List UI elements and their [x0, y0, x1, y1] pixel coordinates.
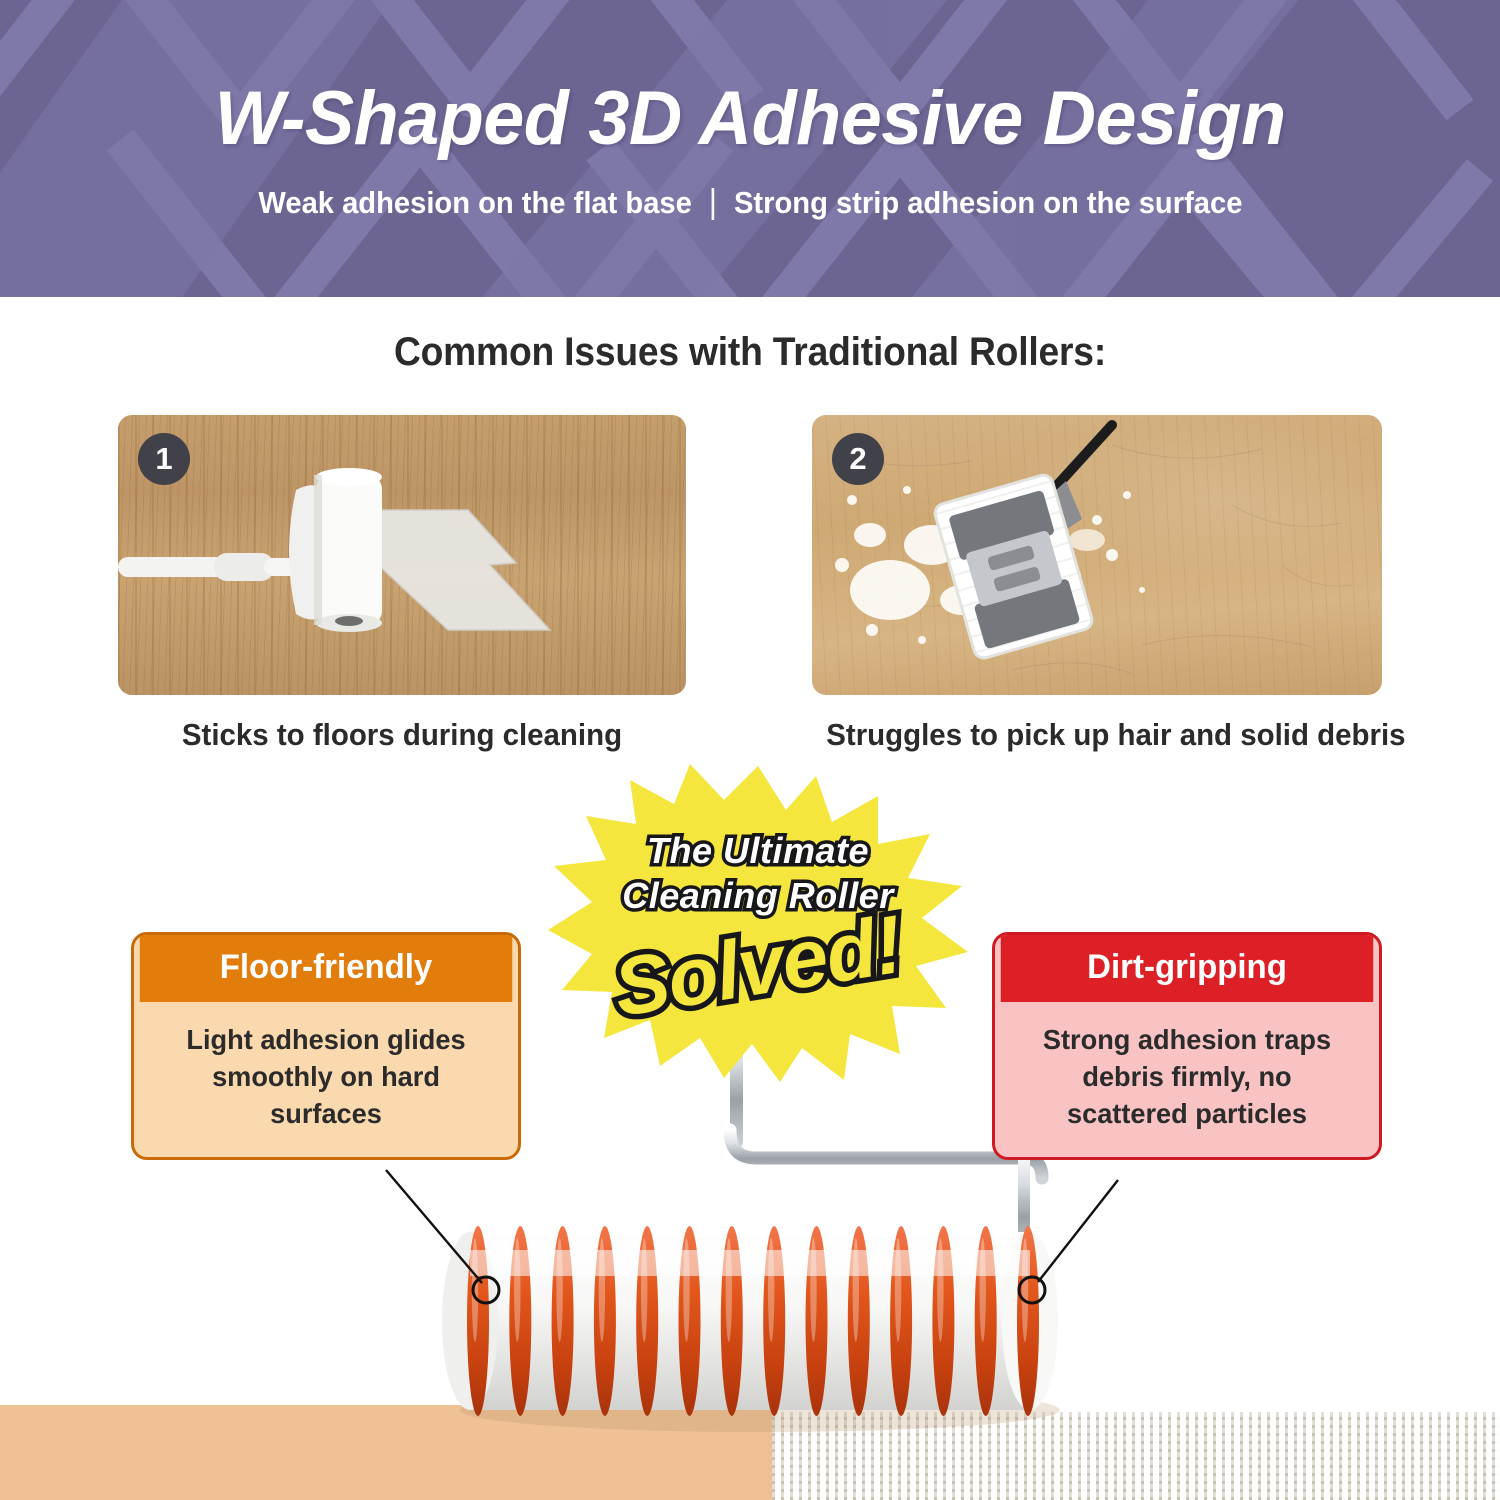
issue-photo-card-2: 2 Struggles to pick up hair and solid de…	[812, 415, 1382, 753]
header-subtitle-right: Strong strip adhesion on the surface	[734, 185, 1242, 221]
issue-badge-1: 1	[138, 433, 190, 485]
feature-card-title-right: Dirt-gripping	[1001, 935, 1373, 1002]
page-title: W-Shaped 3D Adhesive Design	[214, 81, 1285, 157]
issue-photo-1: 1	[118, 415, 686, 695]
dust-mop-illustration	[812, 415, 1382, 695]
header-text-group: W-Shaped 3D Adhesive Design Weak adhesio…	[0, 0, 1500, 297]
issue-photo-2: 2	[812, 415, 1382, 695]
header-subtitle-separator: |	[708, 183, 716, 222]
starburst-shape	[548, 762, 968, 1082]
header-banner: W-Shaped 3D Adhesive Design Weak adhesio…	[0, 0, 1500, 297]
issue-photo-card-1: 1 Sticks to floors during cleaning	[118, 415, 686, 753]
solved-starburst-badge: The Ultimate Cleaning Roller Solved!	[548, 762, 968, 1082]
header-subtitle: Weak adhesion on the flat base | Strong …	[258, 183, 1242, 222]
feature-card-floor-friendly: Floor-friendly Light adhesion glides smo…	[131, 932, 521, 1160]
feature-card-title-left: Floor-friendly	[140, 935, 512, 1002]
feature-card-body-left: Light adhesion glides smoothly on hard s…	[140, 1002, 512, 1157]
issue-caption-2: Struggles to pick up hair and solid debr…	[826, 717, 1368, 753]
feature-card-dirt-gripping: Dirt-gripping Strong adhesion traps debr…	[992, 932, 1382, 1160]
feature-card-body-right: Strong adhesion traps debris firmly, no …	[1001, 1002, 1373, 1157]
issue-badge-2: 2	[832, 433, 884, 485]
issues-section-heading: Common Issues with Traditional Rollers:	[53, 330, 1448, 375]
header-subtitle-left: Weak adhesion on the flat base	[258, 185, 691, 221]
lint-roller-illustration	[118, 415, 686, 695]
issue-caption-1: Sticks to floors during cleaning	[132, 717, 672, 753]
